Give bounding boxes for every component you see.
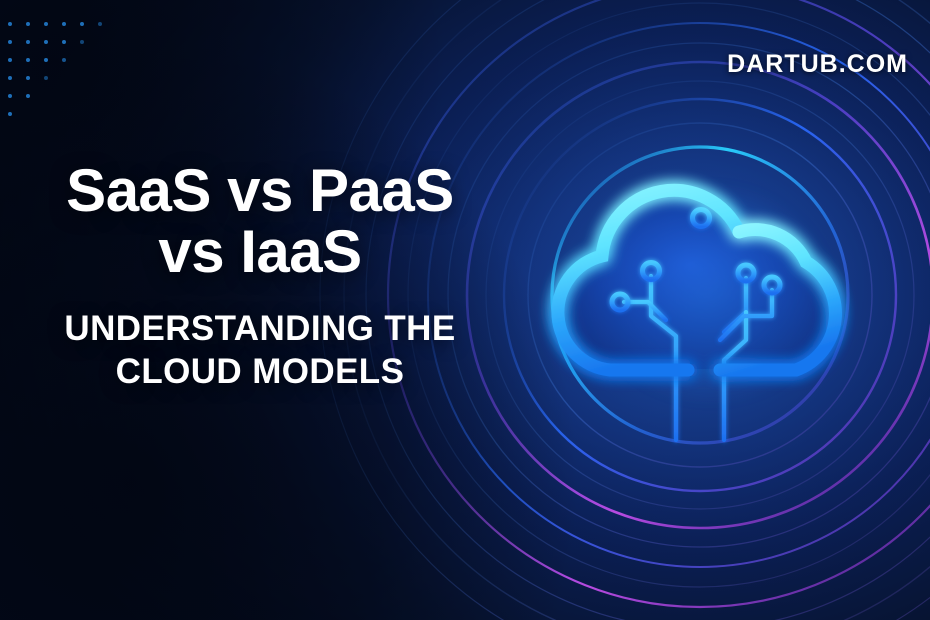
page-subtitle: UNDERSTANDING THE CLOUD MODELS bbox=[0, 308, 520, 393]
cloud-models-banner: DARTUB.COM bbox=[0, 0, 930, 620]
banner-text-block: SaaS vs PaaS vs IaaS UNDERSTANDING THE C… bbox=[0, 160, 520, 394]
page-title: SaaS vs PaaS vs IaaS bbox=[0, 160, 520, 282]
site-watermark: DARTUB.COM bbox=[727, 50, 908, 79]
headline-line-1: SaaS vs PaaS bbox=[66, 157, 454, 224]
headline-line-2: vs IaaS bbox=[10, 221, 510, 282]
subhead-line-2: CLOUD MODELS bbox=[24, 351, 496, 394]
subhead-line-1: UNDERSTANDING THE bbox=[64, 309, 455, 348]
cloud-circuit-icon bbox=[520, 130, 900, 460]
